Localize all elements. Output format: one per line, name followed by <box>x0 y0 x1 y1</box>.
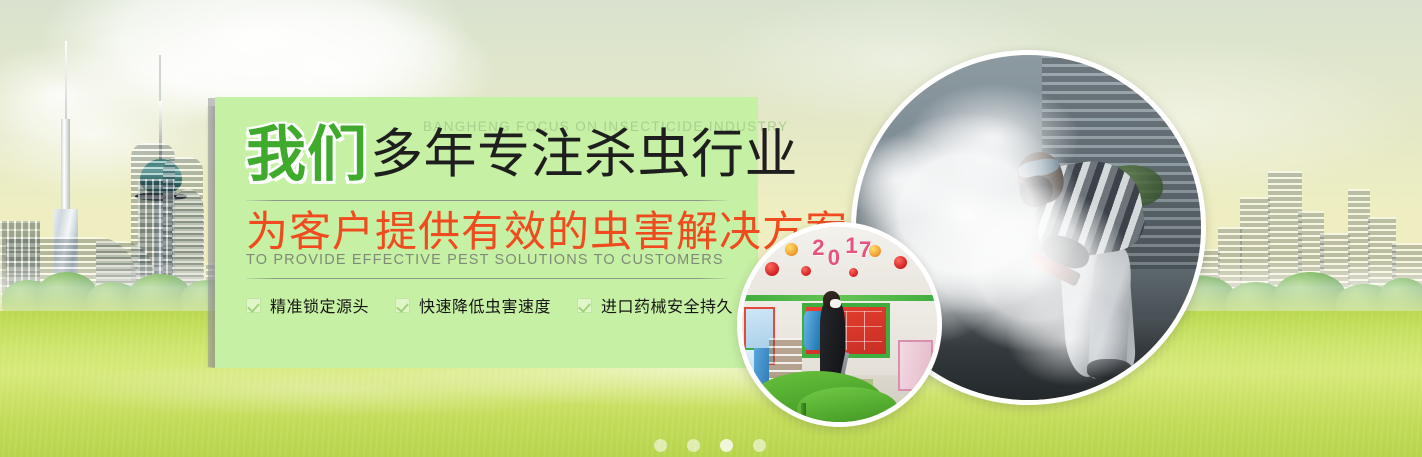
divider-top <box>246 200 727 201</box>
divider-bottom <box>246 278 727 279</box>
carousel-dot-1[interactable] <box>654 439 667 452</box>
table-leg <box>801 403 807 423</box>
headline-rest-text: 多年专注杀虫行业 <box>370 128 798 183</box>
wall-ball-decoration <box>801 266 811 276</box>
carousel-pager[interactable] <box>654 439 766 452</box>
feature-item: 进口药械安全持久 <box>577 293 733 317</box>
green-kids-table <box>797 387 898 427</box>
feature-list: 精准锁定源头 快速降低虫害速度 进口药械安全持久 <box>246 293 733 317</box>
carousel-dot-2[interactable] <box>687 439 700 452</box>
headline-highlight-text: 我们 <box>246 126 368 183</box>
storage-cabinet <box>898 340 933 391</box>
wall-number: 2 <box>812 235 824 261</box>
feature-item: 精准锁定源头 <box>246 293 369 317</box>
panel-headline: 我们 多年专注杀虫行业 <box>246 126 798 183</box>
wall-flower-decoration <box>785 243 798 256</box>
check-icon <box>577 298 592 313</box>
check-icon <box>246 298 261 313</box>
carousel-dot-3[interactable] <box>720 439 733 452</box>
feature-item: 快速降低虫害速度 <box>395 293 551 317</box>
wall-number: 0 <box>828 245 840 271</box>
check-icon <box>395 298 410 313</box>
wall-number: 1 <box>845 233 857 259</box>
feature-label: 精准锁定源头 <box>270 293 369 317</box>
promo-panel: BANGHENG FOCUS ON INSECTICIDE INDUSTRY 我… <box>215 97 758 368</box>
classroom-spraying-photo: 2 0 1 7 <box>737 222 942 427</box>
feature-label: 快速降低虫害速度 <box>419 293 551 317</box>
carousel-dot-4[interactable] <box>753 439 766 452</box>
wall-flower-decoration <box>869 245 881 257</box>
panel-subline-en: TO PROVIDE EFFECTIVE PEST SOLUTIONS TO C… <box>246 252 724 268</box>
feature-label: 进口药械安全持久 <box>601 293 733 317</box>
classroom-scene-background: 2 0 1 7 <box>742 227 937 422</box>
worker-face-mask <box>830 299 842 308</box>
hero-banner: BANGHENG FOCUS ON INSECTICIDE INDUSTRY 我… <box>0 0 1422 457</box>
